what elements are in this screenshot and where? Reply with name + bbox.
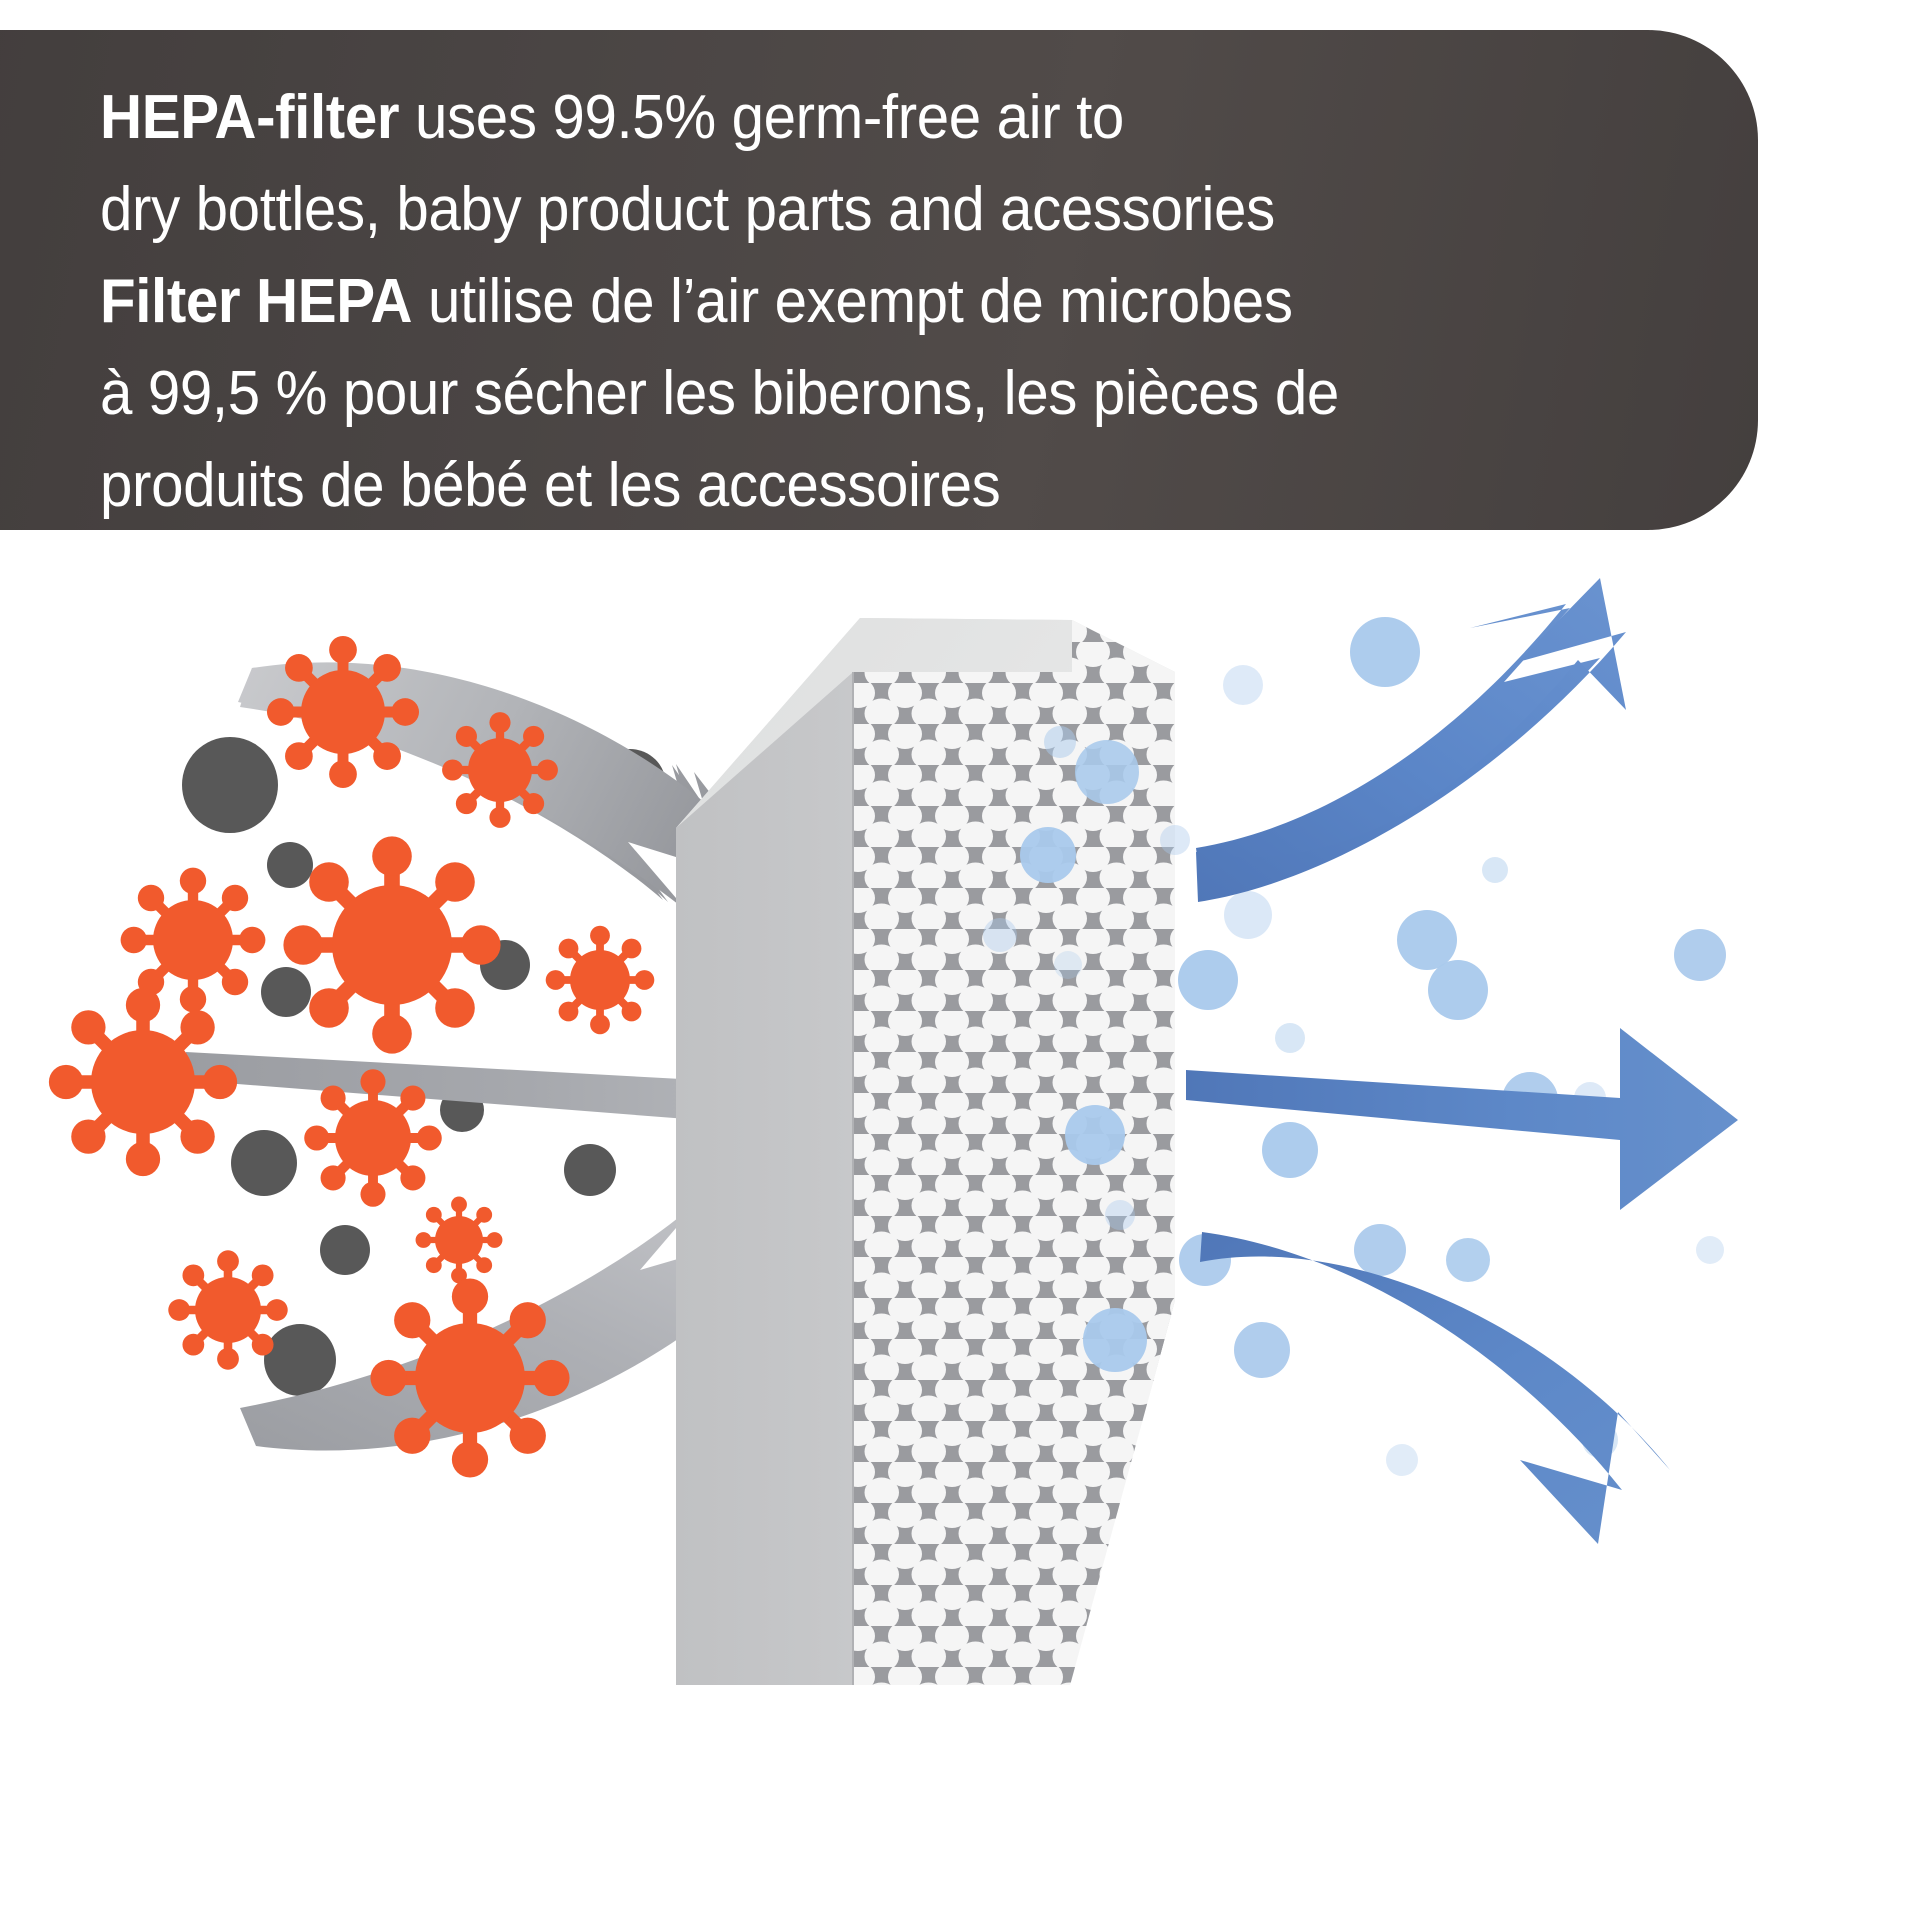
dust-particle <box>264 1324 336 1396</box>
germ-icon <box>267 636 419 788</box>
germ-icon <box>442 712 558 828</box>
air-bubble <box>1275 1023 1305 1053</box>
germ-icon <box>304 1069 442 1207</box>
caption-rest-en-2: dry bottles, baby product parts and aces… <box>100 175 1275 244</box>
air-bubble <box>1397 910 1457 970</box>
dust-particle <box>564 1144 616 1196</box>
caption-line-2: dry bottles, baby product parts and aces… <box>100 164 1602 256</box>
air-bubble <box>1083 1308 1147 1372</box>
air-bubble <box>1262 1122 1318 1178</box>
air-bubble <box>1234 1322 1290 1378</box>
germ-icon <box>168 1250 287 1369</box>
filter-front-face-body <box>676 828 854 1685</box>
caption-line-5: produits de bébé et les accessoires <box>100 440 1602 532</box>
air-bubble <box>1075 740 1139 804</box>
germ-icon <box>546 926 655 1035</box>
dust-particle <box>320 1225 370 1275</box>
air-bubble <box>1674 929 1726 981</box>
air-bubble <box>1354 1224 1406 1276</box>
germ-icon <box>283 836 500 1053</box>
caption-line-3: Filter HEPA utilise de l’air exempt de m… <box>100 256 1602 348</box>
air-bubble <box>1178 950 1238 1010</box>
caption-banner: HEPA-filter uses 99.5% germ-free air to … <box>0 30 1758 530</box>
air-bubble <box>1105 1200 1135 1230</box>
germ-icon <box>416 1197 503 1284</box>
infographic-canvas: HEPA-filter uses 99.5% germ-free air to … <box>0 0 1920 1920</box>
dust-particle <box>261 967 311 1017</box>
air-bubble <box>1386 1444 1418 1476</box>
air-bubble <box>1224 891 1272 939</box>
germ-icon <box>49 988 237 1176</box>
caption-rest-en-1: uses 99.5% germ-free air to <box>399 83 1124 152</box>
air-bubble <box>1482 857 1508 883</box>
air-bubble <box>1065 1105 1125 1165</box>
caption-rest-fr-2: à 99,5 % pour sécher les biberons, les p… <box>100 359 1339 428</box>
air-bubble <box>1446 1238 1490 1282</box>
caption-line-4: à 99,5 % pour sécher les biberons, les p… <box>100 348 1602 440</box>
caption-rest-fr-3: produits de bébé et les accessoires <box>100 451 1000 520</box>
air-bubble <box>983 918 1017 952</box>
germ-icon <box>370 1278 569 1477</box>
caption-lead-en: HEPA-filter <box>100 83 399 152</box>
caption-rest-fr-1: utilise de l’air exempt de microbes <box>412 267 1292 336</box>
caption-line-1: HEPA-filter uses 99.5% germ-free air to <box>100 72 1602 164</box>
hepa-filter-diagram <box>0 560 1920 1920</box>
air-bubble <box>1223 665 1263 705</box>
caption-lead-fr: Filter HEPA <box>100 267 412 336</box>
air-bubble <box>1044 726 1076 758</box>
dust-particle <box>182 737 278 833</box>
air-bubble <box>1428 960 1488 1020</box>
air-bubble <box>1350 617 1420 687</box>
air-bubble <box>1696 1236 1724 1264</box>
air-bubble <box>1020 827 1076 883</box>
dust-particle <box>267 842 313 888</box>
dust-particle <box>231 1130 297 1196</box>
air-bubble <box>1054 951 1082 979</box>
air-bubble <box>1160 825 1190 855</box>
